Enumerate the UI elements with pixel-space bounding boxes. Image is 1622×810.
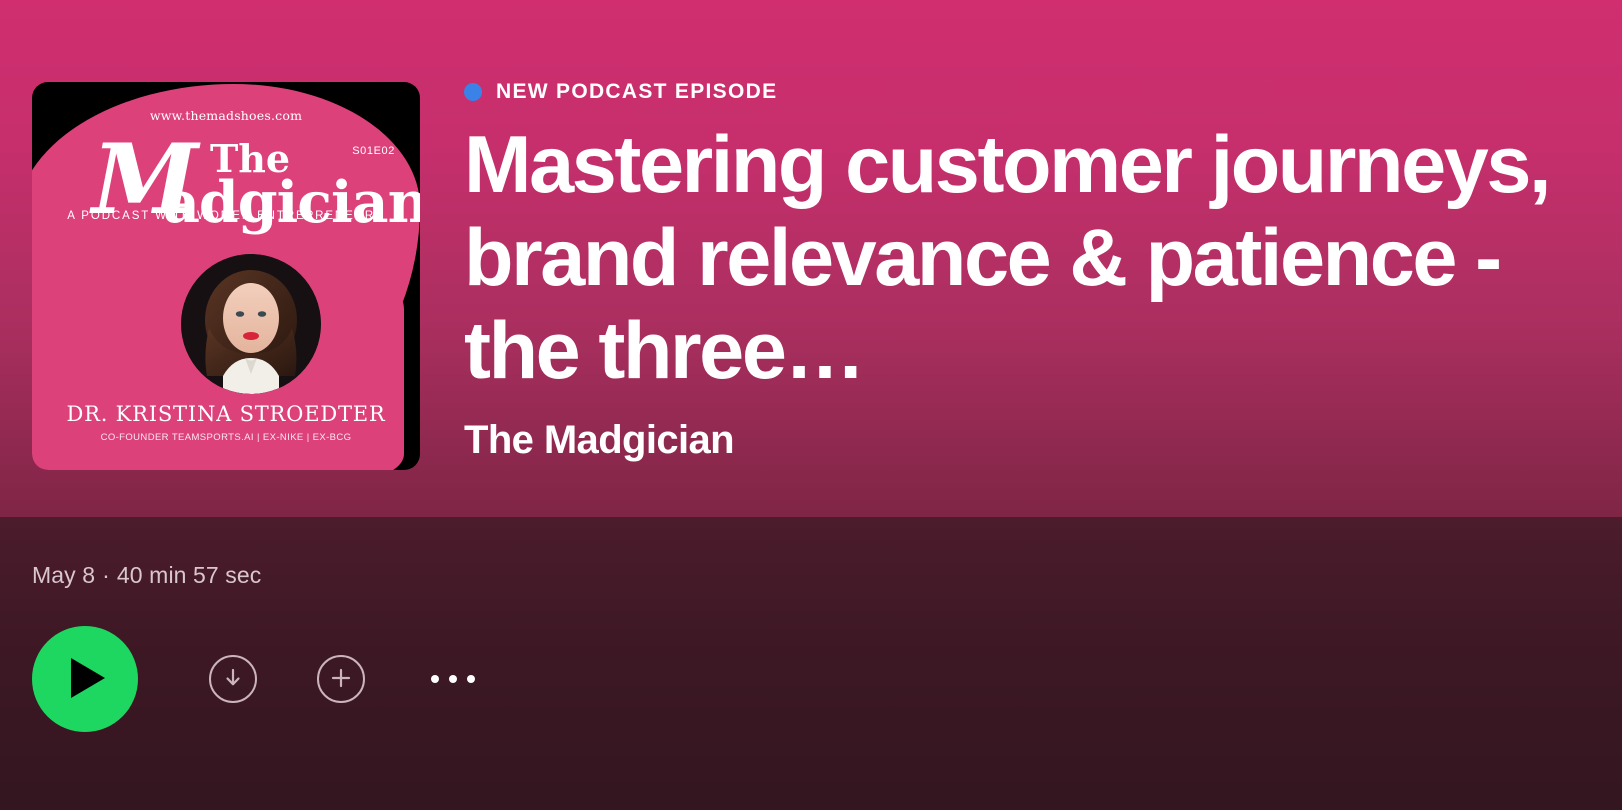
blue-dot-icon (464, 83, 482, 101)
artwork-logo-madgician: adgician (163, 174, 420, 231)
plus-icon (328, 665, 354, 694)
artwork-guest-name: DR. KRISTINA STROEDTER (32, 402, 420, 426)
play-triangle-icon (63, 656, 108, 703)
episode-actions (32, 626, 481, 732)
new-episode-label: NEW PODCAST EPISODE (496, 80, 777, 104)
meta-separator: · (95, 562, 117, 588)
artwork-content: www.themadshoes.com M The adgician S01E0… (32, 82, 420, 470)
episode-duration: 40 min 57 sec (117, 562, 262, 588)
new-episode-badge: NEW PODCAST EPISODE (464, 80, 777, 104)
more-options-button[interactable] (425, 655, 481, 703)
episode-hero: www.themadshoes.com M The adgician S01E0… (0, 0, 1622, 517)
artwork-guest-credits: CO-FOUNDER TEAMSPORTS.AI | EX-NIKE | EX-… (32, 432, 420, 443)
episode-date: May 8 (32, 562, 95, 588)
play-button[interactable] (32, 626, 138, 732)
ellipsis-icon (431, 675, 475, 683)
download-arrow-icon (220, 665, 246, 694)
download-button[interactable] (209, 655, 257, 703)
show-name-link[interactable]: The Madgician (464, 418, 734, 463)
hero-text-block: NEW PODCAST EPISODE Mastering customer j… (464, 0, 1622, 517)
guest-portrait-photo (181, 254, 321, 394)
add-to-episodes-button[interactable] (317, 655, 365, 703)
episode-page: www.themadshoes.com M The adgician S01E0… (0, 0, 1622, 810)
episode-artwork[interactable]: www.themadshoes.com M The adgician S01E0… (32, 82, 420, 470)
artwork-episode-code: S01E02 (352, 145, 395, 157)
episode-title: Mastering customer journeys, brand relev… (464, 119, 1622, 398)
episode-meta: May 8·40 min 57 sec (32, 562, 261, 589)
artwork-tagline: A PODCAST WITH WOMEN ENTREPRENEURS (32, 210, 420, 222)
